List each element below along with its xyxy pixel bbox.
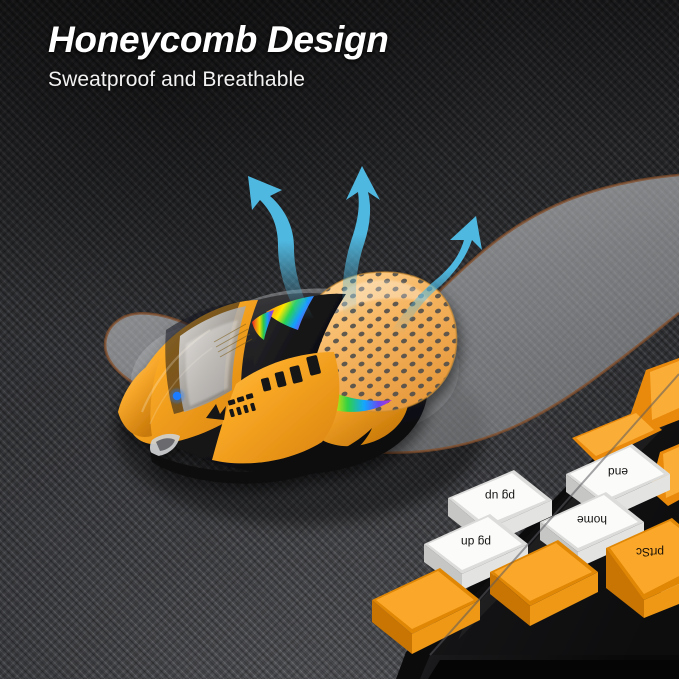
keycap-legend: home xyxy=(577,513,607,527)
page-subtitle: Sweatproof and Breathable xyxy=(48,68,389,92)
keycap-legend: end xyxy=(608,465,628,479)
product-marketing-image: pg up pg dn end xyxy=(0,0,679,679)
keycap-legend: pg up xyxy=(485,489,515,503)
keycap-legend: prtSc xyxy=(636,545,664,559)
heading-block: Honeycomb Design Sweatproof and Breathab… xyxy=(48,20,389,92)
scene-artwork: pg up pg dn end xyxy=(0,0,679,679)
page-title: Honeycomb Design xyxy=(48,20,389,60)
keycap-legend: pg dn xyxy=(461,535,491,549)
